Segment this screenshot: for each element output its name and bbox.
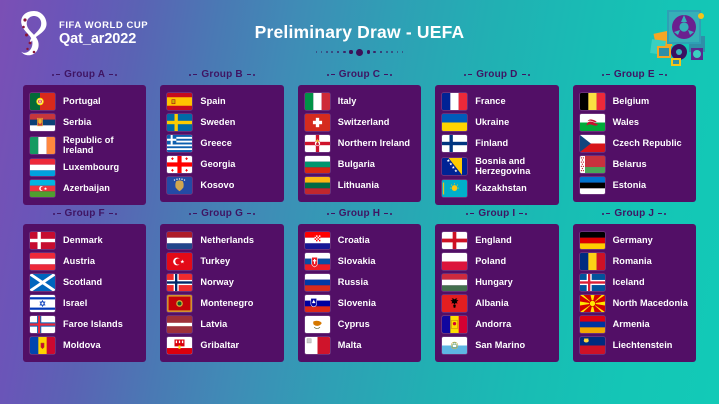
group-title: Group B [160, 66, 283, 85]
team-row[interactable]: Gribaltar [165, 335, 278, 356]
group-panel: SpainSwedenGreeceGeorgiaKosovo [160, 85, 283, 202]
team-row[interactable]: Slovakia [303, 251, 416, 272]
flag-belgium-icon [580, 93, 605, 110]
team-row[interactable]: Romania [578, 251, 691, 272]
team-row[interactable]: Bulgaria [303, 154, 416, 175]
team-name: Italy [338, 96, 357, 107]
team-row[interactable]: Kosovo [165, 175, 278, 196]
team-name: Serbia [63, 117, 91, 128]
title-center-dot [356, 49, 363, 56]
team-row[interactable]: Latvia [165, 314, 278, 335]
team-name: Iceland [613, 277, 645, 288]
team-name: Slovakia [338, 256, 376, 267]
draw-poster: FIFA WORLD CUP Qat_ar2022 Preliminary Dr… [0, 0, 719, 404]
group-title-label: Group E [614, 69, 655, 80]
team-name: Spain [200, 96, 225, 107]
flag-liechtenstein-icon [580, 337, 605, 354]
group-title: Group H [298, 205, 421, 224]
team-name: England [475, 235, 512, 246]
team-name: Malta [338, 340, 362, 351]
team-row[interactable]: England [440, 230, 553, 251]
group-title-ornament-left [466, 213, 474, 215]
group-cell: Group JGermanyRomaniaIcelandNorth Macedo… [566, 205, 703, 362]
flag-wales-icon [580, 114, 605, 131]
flag-azerbaijan-icon [30, 180, 55, 197]
team-name: Netherlands [200, 235, 254, 246]
group-title-ornament-right [384, 74, 392, 76]
team-name: Romania [613, 256, 652, 267]
team-name: Croatia [338, 235, 370, 246]
flag-czech-icon [580, 135, 605, 152]
team-row[interactable]: Kazakhstan [440, 178, 553, 199]
team-name: Moldova [63, 340, 101, 351]
team-name: San Marino [475, 340, 525, 351]
team-name: Wales [613, 117, 639, 128]
flag-italy-icon [305, 93, 330, 110]
group-cell: Group CItalySwitzerlandNorthern IrelandB… [291, 66, 428, 205]
group-title: Group G [160, 205, 283, 224]
group-title-ornament-right [384, 213, 392, 215]
team-name: Denmark [63, 235, 103, 246]
team-row[interactable]: Poland [440, 251, 553, 272]
flag-bosnia-icon [442, 158, 467, 175]
team-row[interactable]: Germany [578, 230, 691, 251]
group-title-ornament-left [464, 74, 472, 76]
flag-norway-icon [167, 274, 192, 291]
team-row[interactable]: Moldova [28, 335, 141, 356]
team-name: Israel [63, 298, 87, 309]
team-name: Latvia [200, 319, 227, 330]
flag-kosovo-icon [167, 177, 192, 194]
flag-belarus-icon [580, 156, 605, 173]
group-cell: Group HCroatiaSlovakiaRussiaSloveniaCypr… [291, 205, 428, 362]
flag-san-marino-icon [442, 337, 467, 354]
team-row[interactable]: Scotland [28, 272, 141, 293]
group-title-label: Group A [64, 69, 105, 80]
team-name: France [475, 96, 505, 107]
flag-hungary-icon [442, 274, 467, 291]
group-title: Group I [435, 205, 558, 224]
group-panel: CroatiaSlovakiaRussiaSloveniaCyprusMalta [298, 224, 421, 362]
flag-england-icon [442, 232, 467, 249]
group-title: Group A [23, 66, 146, 85]
team-row[interactable]: Republic of Ireland [28, 133, 141, 157]
team-row[interactable]: Georgia [165, 154, 278, 175]
title-decoration [0, 48, 719, 56]
team-row[interactable]: Faroe Islands [28, 314, 141, 335]
flag-greece-icon [167, 135, 192, 152]
team-name: Kosovo [200, 180, 234, 191]
flag-switzerland-icon [305, 114, 330, 131]
team-row[interactable]: Luxembourg [28, 157, 141, 178]
group-title-ornament-left [602, 213, 610, 215]
team-name: North Macedonia [613, 298, 688, 309]
team-name: Finland [475, 138, 508, 149]
group-title: Group E [573, 66, 696, 85]
team-row[interactable]: Croatia [303, 230, 416, 251]
flag-ireland-icon [30, 137, 55, 154]
flag-serbia-icon [30, 114, 55, 131]
team-name: Sweden [200, 117, 235, 128]
team-row[interactable]: North Macedonia [578, 293, 691, 314]
team-row[interactable]: Belgium [578, 91, 691, 112]
flag-spain-icon [167, 93, 192, 110]
team-row[interactable]: Lithuania [303, 175, 416, 196]
flag-albania-icon [442, 295, 467, 312]
group-title-ornament-left [53, 213, 61, 215]
group-title-label: Group H [339, 208, 380, 219]
group-panel: ItalySwitzerlandNorthern IrelandBulgaria… [298, 85, 421, 202]
team-row[interactable]: Estonia [578, 175, 691, 196]
flag-romania-icon [580, 253, 605, 270]
group-title-ornament-left [602, 74, 610, 76]
team-row[interactable]: San Marino [440, 335, 553, 356]
team-row[interactable]: Finland [440, 133, 553, 154]
flag-finland-icon [442, 135, 467, 152]
team-name: Turkey [200, 256, 230, 267]
team-name: Ukraine [475, 117, 509, 128]
team-name: Georgia [200, 159, 235, 170]
flag-slovenia-icon [305, 295, 330, 312]
flag-turkey-icon [167, 253, 192, 270]
flag-malta-icon [305, 337, 330, 354]
group-title-label: Group I [478, 208, 515, 219]
team-name: Gribaltar [200, 340, 239, 351]
team-row[interactable]: Italy [303, 91, 416, 112]
group-title-label: Group B [201, 69, 242, 80]
group-panel: BelgiumWalesCzech RepublicBelarusEstonia [573, 85, 696, 202]
group-title-label: Group D [476, 69, 517, 80]
team-name: Hungary [475, 277, 513, 288]
team-name: Portugal [63, 96, 101, 107]
group-panel: PortugalSerbiaRepublic of IrelandLuxembo… [23, 85, 146, 205]
poster-header: FIFA WORLD CUP Qat_ar2022 Preliminary Dr… [0, 0, 719, 66]
flag-moldova-icon [30, 337, 55, 354]
flag-russia-icon [305, 274, 330, 291]
team-row[interactable]: Wales [578, 112, 691, 133]
flag-denmark-icon [30, 232, 55, 249]
group-cell: Group GNetherlandsTurkeyNorwayMontenegro… [153, 205, 290, 362]
team-row[interactable]: Northern Ireland [303, 133, 416, 154]
flag-estonia-icon [580, 177, 605, 194]
group-title: Group F [23, 205, 146, 224]
group-title-ornament-left [327, 213, 335, 215]
group-panel: GermanyRomaniaIcelandNorth MacedoniaArme… [573, 224, 696, 362]
group-title-label: Group C [339, 69, 380, 80]
team-row[interactable]: Montenegro [165, 293, 278, 314]
team-row[interactable]: Russia [303, 272, 416, 293]
flag-scotland-icon [30, 274, 55, 291]
team-name: Andorra [475, 319, 511, 330]
team-name: Poland [475, 256, 506, 267]
team-name: Kazakhstan [475, 183, 527, 194]
team-row[interactable]: Malta [303, 335, 416, 356]
team-row[interactable]: Denmark [28, 230, 141, 251]
flag-faroe-islands-icon [30, 316, 55, 333]
flag-gibraltar-icon [167, 337, 192, 354]
team-name: Cyprus [338, 319, 370, 330]
group-title-label: Group G [201, 208, 243, 219]
group-title-label: Group F [65, 208, 105, 219]
group-title-ornament-right [109, 74, 117, 76]
team-name: Norway [200, 277, 234, 288]
flag-croatia-icon [305, 232, 330, 249]
group-cell: Group EBelgiumWalesCzech RepublicBelarus… [566, 66, 703, 205]
team-name: Albania [475, 298, 509, 309]
flag-luxembourg-icon [30, 159, 55, 176]
group-title-ornament-right [659, 74, 667, 76]
team-name: Lithuania [338, 180, 379, 191]
team-name: Faroe Islands [63, 319, 123, 330]
group-title-ornament-left [327, 74, 335, 76]
group-title-label: Group J [614, 208, 654, 219]
flag-latvia-icon [167, 316, 192, 333]
group-cell: Group APortugalSerbiaRepublic of Ireland… [16, 66, 153, 205]
team-row[interactable]: France [440, 91, 553, 112]
team-row[interactable]: Serbia [28, 112, 141, 133]
team-name: Liechtenstein [613, 340, 673, 351]
team-row[interactable]: Belarus [578, 154, 691, 175]
group-title-ornament-right [658, 213, 666, 215]
team-name: Bulgaria [338, 159, 375, 170]
flag-austria-icon [30, 253, 55, 270]
flag-kazakhstan-icon [442, 180, 467, 197]
team-name: Bosnia and Herzegovina [475, 156, 551, 177]
group-title-ornament-right [522, 74, 530, 76]
flag-northern-ireland-icon [305, 135, 330, 152]
flag-france-icon [442, 93, 467, 110]
team-name: Azerbaijan [63, 183, 110, 194]
flag-israel-icon [30, 295, 55, 312]
team-row[interactable]: Armenia [578, 314, 691, 335]
group-panel: EnglandPolandHungaryAlbaniaAndorraSan Ma… [435, 224, 558, 362]
team-name: Republic of Ireland [63, 135, 139, 156]
team-row[interactable]: Ukraine [440, 112, 553, 133]
group-cell: Group FDenmarkAustriaScotlandIsraelFaroe… [16, 205, 153, 362]
group-panel: DenmarkAustriaScotlandIsraelFaroe Island… [23, 224, 146, 362]
flag-sweden-icon [167, 114, 192, 131]
group-title: Group D [435, 66, 558, 85]
flag-germany-icon [580, 232, 605, 249]
team-row[interactable]: Albania [440, 293, 553, 314]
flag-ukraine-icon [442, 114, 467, 131]
flag-andorra-icon [442, 316, 467, 333]
group-cell: Group BSpainSwedenGreeceGeorgiaKosovo [153, 66, 290, 205]
team-row[interactable]: Israel [28, 293, 141, 314]
team-row[interactable]: Switzerland [303, 112, 416, 133]
flag-cyprus-icon [305, 316, 330, 333]
team-name: Russia [338, 277, 368, 288]
group-cell: Group IEnglandPolandHungaryAlbaniaAndorr… [428, 205, 565, 362]
team-name: Germany [613, 235, 653, 246]
flag-armenia-icon [580, 316, 605, 333]
team-row[interactable]: Portugal [28, 91, 141, 112]
group-title-ornament-right [247, 213, 255, 215]
team-name: Czech Republic [613, 138, 682, 149]
group-title-ornament-right [109, 213, 117, 215]
flag-georgia-icon [167, 156, 192, 173]
team-row[interactable]: Austria [28, 251, 141, 272]
flag-montenegro-icon [167, 295, 192, 312]
group-title: Group C [298, 66, 421, 85]
title-block: Preliminary Draw - UEFA [0, 22, 719, 56]
flag-poland-icon [442, 253, 467, 270]
team-row[interactable]: Azerbaijan [28, 178, 141, 199]
flag-north-macedonia-icon [580, 295, 605, 312]
team-row[interactable]: Cyprus [303, 314, 416, 335]
team-row[interactable]: Greece [165, 133, 278, 154]
team-row[interactable]: Liechtenstein [578, 335, 691, 356]
team-name: Austria [63, 256, 95, 267]
team-row[interactable]: Andorra [440, 314, 553, 335]
team-row[interactable]: Sweden [165, 112, 278, 133]
team-row[interactable]: Czech Republic [578, 133, 691, 154]
team-row[interactable]: Iceland [578, 272, 691, 293]
team-name: Estonia [613, 180, 647, 191]
group-title: Group J [573, 205, 696, 224]
team-name: Montenegro [200, 298, 253, 309]
team-row[interactable]: Hungary [440, 272, 553, 293]
team-row[interactable]: Turkey [165, 251, 278, 272]
team-name: Belgium [613, 96, 650, 107]
group-title-ornament-right [247, 74, 255, 76]
team-row[interactable]: Norway [165, 272, 278, 293]
group-title-ornament-left [52, 74, 60, 76]
group-title-ornament-left [189, 74, 197, 76]
group-title-ornament-left [189, 213, 197, 215]
team-row[interactable]: Bosnia and Herzegovina [440, 154, 553, 178]
flag-bulgaria-icon [305, 156, 330, 173]
team-name: Armenia [613, 319, 650, 330]
flag-iceland-icon [580, 274, 605, 291]
flag-portugal-icon [30, 93, 55, 110]
team-row[interactable]: Slovenia [303, 293, 416, 314]
team-name: Greece [200, 138, 231, 149]
group-cell: Group DFranceUkraineFinlandBosnia and He… [428, 66, 565, 205]
team-name: Belarus [613, 159, 647, 170]
team-row[interactable]: Spain [165, 91, 278, 112]
team-name: Luxembourg [63, 162, 119, 173]
team-name: Northern Ireland [338, 138, 410, 149]
team-row[interactable]: Netherlands [165, 230, 278, 251]
team-name: Switzerland [338, 117, 390, 128]
flag-lithuania-icon [305, 177, 330, 194]
page-title: Preliminary Draw - UEFA [0, 22, 719, 43]
team-name: Scotland [63, 277, 102, 288]
group-panel: FranceUkraineFinlandBosnia and Herzegovi… [435, 85, 558, 205]
group-title-ornament-right [519, 213, 527, 215]
groups-grid: Group APortugalSerbiaRepublic of Ireland… [0, 66, 719, 362]
flag-netherlands-icon [167, 232, 192, 249]
group-panel: NetherlandsTurkeyNorwayMontenegroLatviaG… [160, 224, 283, 362]
tournament-graphic-emblem-icon [645, 2, 713, 68]
team-name: Slovenia [338, 298, 376, 309]
flag-slovakia-icon [305, 253, 330, 270]
